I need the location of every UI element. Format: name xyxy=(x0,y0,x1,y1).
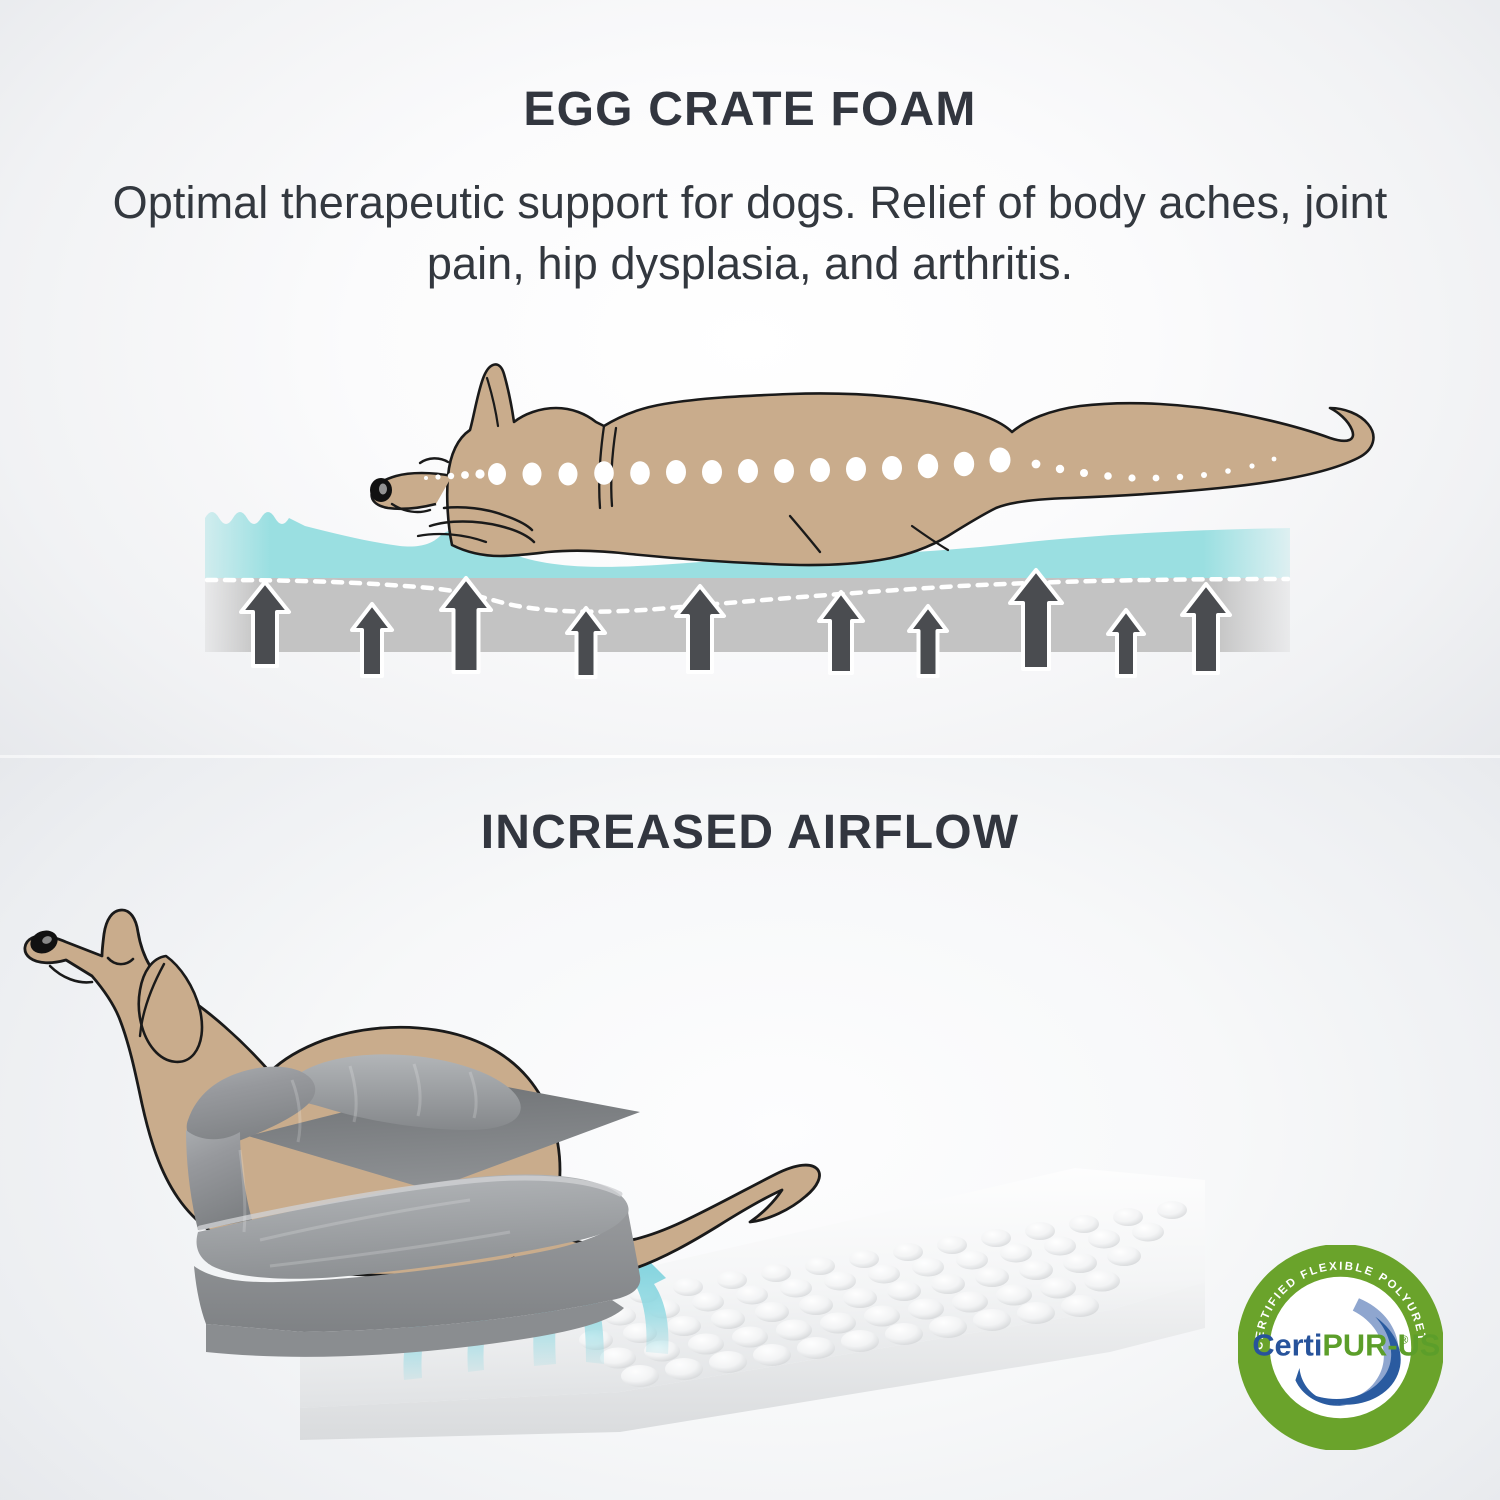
section-title-egg-crate-foam: EGG CRATE FOAM xyxy=(0,82,1500,137)
cross-section-diagram xyxy=(0,330,1500,730)
certipur-us-badge: CONTAINS CERTIFIED FLEXIBLE POLYURETHANE… xyxy=(1238,1245,1443,1450)
svg-text:CertiPUR-US: CertiPUR-US xyxy=(1252,1328,1440,1363)
section-divider xyxy=(0,755,1500,758)
svg-text:®: ® xyxy=(1400,1334,1409,1346)
badge-wordmark: CertiPUR-US ® xyxy=(1252,1328,1440,1363)
section-title-increased-airflow: INCREASED AIRFLOW xyxy=(0,805,1500,860)
section-subtitle-egg-crate-foam: Optimal therapeutic support for dogs. Re… xyxy=(60,172,1440,294)
